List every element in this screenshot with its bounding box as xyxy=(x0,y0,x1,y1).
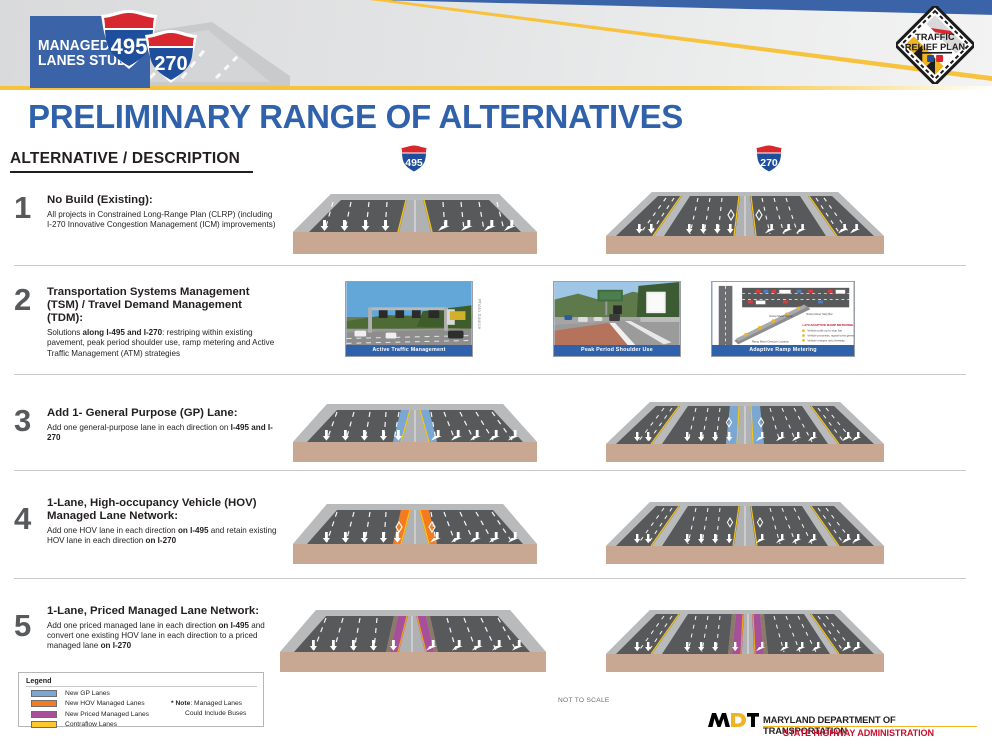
row-divider-4 xyxy=(14,578,966,579)
legend-swatch-contraflow-lanes xyxy=(31,721,57,728)
not-to-scale-label: NOT TO SCALE xyxy=(558,697,610,704)
alt-number-3: 3 xyxy=(14,405,31,436)
legend-swatch-new-gp-lanes xyxy=(31,690,57,697)
legend-swatch-new-priced-managed-lanes xyxy=(31,711,57,718)
legend-note-line-2: Could Include Buses xyxy=(185,709,246,719)
alt-body-3: Add one general-purpose lane in each dir… xyxy=(47,423,279,443)
svg-text:Ramp Meter Detector Location: Ramp Meter Detector Location xyxy=(752,339,790,343)
legend-rule xyxy=(26,686,257,687)
legend-item-new-priced-managed-lanes: New Priced Managed Lanes xyxy=(31,709,149,719)
alt-description-3: Add 1- General Purpose (GP) Lane: Add on… xyxy=(47,407,279,443)
legend-swatch-new-hov-managed-lanes xyxy=(31,700,57,707)
row-divider-2 xyxy=(14,374,966,375)
photo-caption-2: Peak Period Shoulder Use xyxy=(554,345,680,356)
row-divider-1 xyxy=(14,265,966,266)
alt-number-5: 5 xyxy=(14,610,31,641)
svg-text:Vehicle proceeds, signal turns: Vehicle proceeds, signal turns green xyxy=(807,334,854,338)
photo-credit: Photo Source xyxy=(477,299,482,329)
svg-text:TRAFFIC: TRAFFIC xyxy=(915,32,955,42)
alt-description-1: No Build (Existing): All projects in Con… xyxy=(47,194,279,230)
legend-label-contraflow-lanes: Contraflow Lanes xyxy=(65,721,117,728)
legend-note-prefix: * Note xyxy=(171,700,190,707)
legend-note: * Note: Managed Lanes Could Include Buse… xyxy=(171,699,246,719)
column-header-rule xyxy=(10,171,253,173)
alt-description-5: 1-Lane, Priced Managed Lane Network: Add… xyxy=(47,605,279,651)
legend-title: Legend xyxy=(26,676,52,685)
alt-body-1: All projects in Constrained Long-Range P… xyxy=(47,210,279,230)
mdot-wordmark-icon xyxy=(707,711,763,729)
legend-item-new-gp-lanes: New GP Lanes xyxy=(31,689,149,699)
photo-caption-3: Adaptive Ramp Metering xyxy=(712,345,854,356)
legend-item-list: New GP Lanes New HOV Managed Lanes New P… xyxy=(31,689,149,730)
alt-body-5: Add one priced managed lane in each dire… xyxy=(47,621,279,652)
roadway-illustration-alt1-i495 xyxy=(275,170,555,255)
svg-text:270: 270 xyxy=(154,53,187,75)
alt-title-1: No Build (Existing): xyxy=(47,194,279,207)
page-title: PRELIMINARY RANGE OF ALTERNATIVES xyxy=(28,98,683,136)
alt-title-5: 1-Lane, Priced Managed Lane Network: xyxy=(47,605,279,618)
alt-body-2: Solutions along I-495 and I-270: restrip… xyxy=(47,328,279,359)
svg-text:Vehicle pulls up to stop bar: Vehicle pulls up to stop bar xyxy=(807,329,842,333)
roadway-illustration-alt3-i270 xyxy=(600,384,890,464)
traffic-relief-plan-badge-icon: TRAFFIC RELIEF PLAN xyxy=(896,6,974,84)
photo-active-traffic-management: Active Traffic Management xyxy=(345,281,473,357)
photo-peak-period-shoulder-use: Peak Period Shoulder Use xyxy=(553,281,681,357)
mdot-sha-label: STATE HIGHWAY ADMINISTRATION xyxy=(783,728,934,738)
mdot-sha-logo: MARYLAND DEPARTMENT OF TRANSPORTATION ST… xyxy=(707,711,977,739)
legend-box: Legend New GP Lanes New HOV Managed Lane… xyxy=(18,672,264,727)
photo-caption-1: Active Traffic Management xyxy=(346,345,472,356)
roadway-illustration-alt5-i495 xyxy=(268,592,558,674)
alt-title-4: 1-Lane, High-occupancy Vehicle (HOV) Man… xyxy=(47,497,279,523)
legend-item-contraflow-lanes: Contraflow Lanes xyxy=(31,720,149,730)
svg-text:Vehicle merges onto freeway: Vehicle merges onto freeway xyxy=(807,338,845,342)
alt-body-4: Add one HOV lane in each direction on I-… xyxy=(47,526,279,546)
legend-item-new-hov-managed-lanes: New HOV Managed Lanes xyxy=(31,699,149,709)
interstate-shield-270-icon: 270 xyxy=(140,28,202,86)
alt-number-4: 4 xyxy=(14,503,31,534)
poster-page: MANAGED LANES STUDY 495 270 xyxy=(0,0,992,745)
alt-title-3: Add 1- General Purpose (GP) Lane: xyxy=(47,407,279,420)
svg-text:Ramp Meter Stop Bar: Ramp Meter Stop Bar xyxy=(806,312,832,316)
roadway-illustration-alt1-i270 xyxy=(600,170,890,255)
alt-number-1: 1 xyxy=(14,192,31,223)
roadway-illustration-alt5-i270 xyxy=(600,592,890,674)
tsm-photo-gallery: Active Traffic Management Photo Source xyxy=(345,281,965,357)
svg-text:Ramp Meter Signal: Ramp Meter Signal xyxy=(769,314,793,318)
legend-label-new-priced-managed-lanes: New Priced Managed Lanes xyxy=(65,711,149,718)
alt-number-2: 2 xyxy=(14,284,31,315)
svg-text:495: 495 xyxy=(405,157,423,169)
alt-title-2: Transportation Systems Management (TSM) … xyxy=(47,286,279,326)
roadway-illustration-alt4-i495 xyxy=(275,484,555,566)
column-header-label: ALTERNATIVE / DESCRIPTION xyxy=(10,150,270,168)
svg-text:I-270 ADAPTIVE RAMP METERING E: I-270 ADAPTIVE RAMP METERING ELEMENTS xyxy=(802,323,854,327)
alt-description-4: 1-Lane, High-occupancy Vehicle (HOV) Man… xyxy=(47,497,279,546)
photo-adaptive-ramp-metering: I-270 ADAPTIVE RAMP METERING ELEMENTS Ve… xyxy=(711,281,855,357)
row-divider-3 xyxy=(14,470,966,471)
legend-label-new-gp-lanes: New GP Lanes xyxy=(65,690,110,697)
header-banner: MANAGED LANES STUDY 495 270 xyxy=(0,0,992,95)
legend-label-new-hov-managed-lanes: New HOV Managed Lanes xyxy=(65,700,145,707)
svg-text:270: 270 xyxy=(760,157,778,169)
svg-text:RELIEF PLAN: RELIEF PLAN xyxy=(905,42,966,53)
roadway-illustration-alt4-i270 xyxy=(600,484,890,566)
legend-note-line-1: : Managed Lanes xyxy=(190,700,242,707)
column-header-alternative-description: ALTERNATIVE / DESCRIPTION xyxy=(10,150,270,173)
alt-description-2: Transportation Systems Management (TSM) … xyxy=(47,286,279,359)
roadway-illustration-alt3-i495 xyxy=(275,384,555,464)
